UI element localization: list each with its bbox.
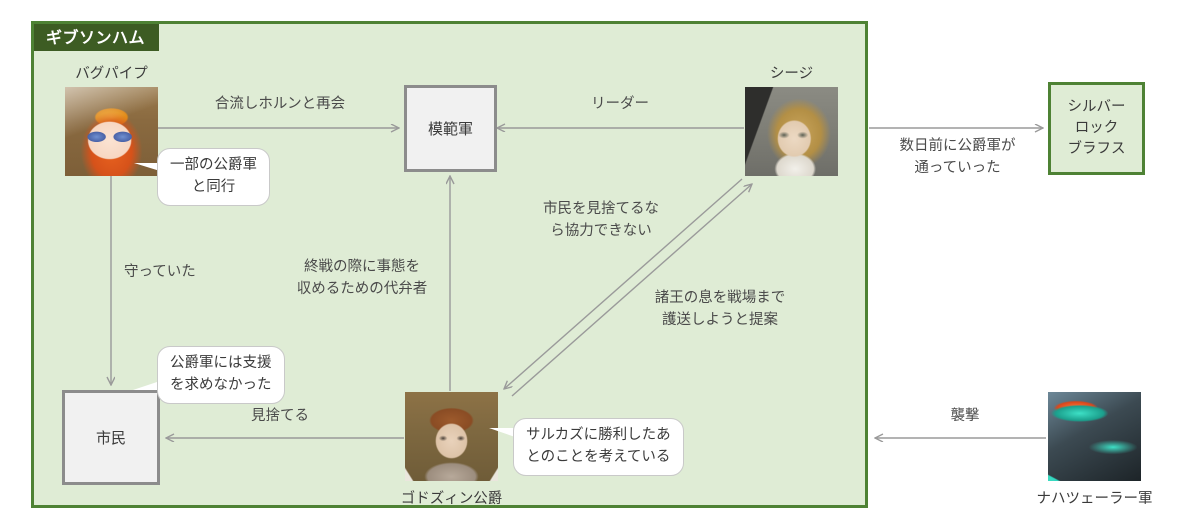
bubble-citizens-note: 公爵軍には支援 を求めなかった (157, 346, 285, 404)
edge-label-duke-to-model-army-line1: 終戦の際に事態を (272, 257, 452, 279)
group-title-label: ギブソンハム (34, 24, 159, 51)
edge-label-siege-to-duke-line2: ら協力できない (527, 221, 675, 243)
node-box-citizens-label: 市民 (96, 427, 126, 448)
edge-label-nachzehrer-to-group: 襲撃 (895, 406, 1035, 428)
edge-label-bagpipe-to-model-army: 合流しホルンと再会 (140, 94, 420, 116)
edge-label-bagpipe-to-citizens: 守っていた (124, 262, 234, 284)
edge-label-duke-to-model-army-line2: 収めるための代弁者 (272, 279, 452, 301)
edge-label-siege-to-duke-line1: 市民を見捨てるな (527, 199, 675, 221)
edge-label-siege-to-duke: 市民を見捨てるな ら協力できない (527, 199, 675, 243)
edge-label-duke-to-citizens: 見捨てる (185, 406, 375, 428)
edge-label-siege-to-silverlock: 数日前に公爵軍が 通っていった (880, 136, 1035, 180)
node-label-siege: シージ (725, 62, 858, 83)
node-box-citizens[interactable]: 市民 (62, 390, 160, 485)
bubble-citizens-note-line2: を求めなかった (170, 375, 272, 397)
silverlock-line-1: シルバー (1068, 97, 1126, 118)
edge-label-siege-to-silverlock-line2: 通っていった (880, 158, 1035, 180)
node-box-model-army-label: 模範軍 (428, 118, 473, 139)
node-portrait-siege[interactable] (745, 87, 838, 176)
silverlock-line-2: ロック (1075, 118, 1119, 139)
edge-label-duke-to-siege: 諸王の息を戦場まで 護送しようと提案 (630, 288, 810, 332)
bubble-duke-note-line1: サルカズに勝利したあ (526, 425, 671, 447)
node-label-duke: ゴドズィン公爵 (385, 487, 518, 508)
diagram-canvas: ギブソンハム バグパイプ (0, 0, 1200, 530)
bubble-duke-note: サルカズに勝利したあ とのことを考えている (513, 418, 684, 476)
bubble-bagpipe-note-line1: 一部の公爵軍 (170, 155, 257, 177)
edge-label-siege-to-model-army: リーダー (510, 94, 730, 116)
node-label-bagpipe: バグパイプ (45, 62, 178, 83)
bubble-tail-citizens (133, 381, 160, 390)
node-portrait-duke[interactable] (405, 392, 498, 481)
bubble-tail-duke (489, 428, 515, 437)
bubble-citizens-note-line1: 公爵軍には支援 (170, 353, 272, 375)
bubble-duke-note-line2: とのことを考えている (526, 447, 671, 469)
node-box-silverlock-bluffs[interactable]: シルバー ロック ブラフス (1048, 82, 1145, 175)
bubble-bagpipe-note: 一部の公爵軍 と同行 (157, 148, 270, 206)
node-label-nachzehrer: ナハツェーラー軍 (1011, 487, 1178, 508)
edge-label-duke-to-model-army: 終戦の際に事態を 収めるための代弁者 (272, 257, 452, 301)
edge-label-duke-to-siege-line2: 護送しようと提案 (630, 310, 810, 332)
edge-label-siege-to-silverlock-line1: 数日前に公爵軍が (880, 136, 1035, 158)
node-portrait-nachzehrer[interactable] (1048, 392, 1141, 481)
silverlock-line-3: ブラフス (1068, 139, 1126, 160)
edge-label-duke-to-siege-line1: 諸王の息を戦場まで (630, 288, 810, 310)
bubble-bagpipe-note-line2: と同行 (170, 177, 257, 199)
